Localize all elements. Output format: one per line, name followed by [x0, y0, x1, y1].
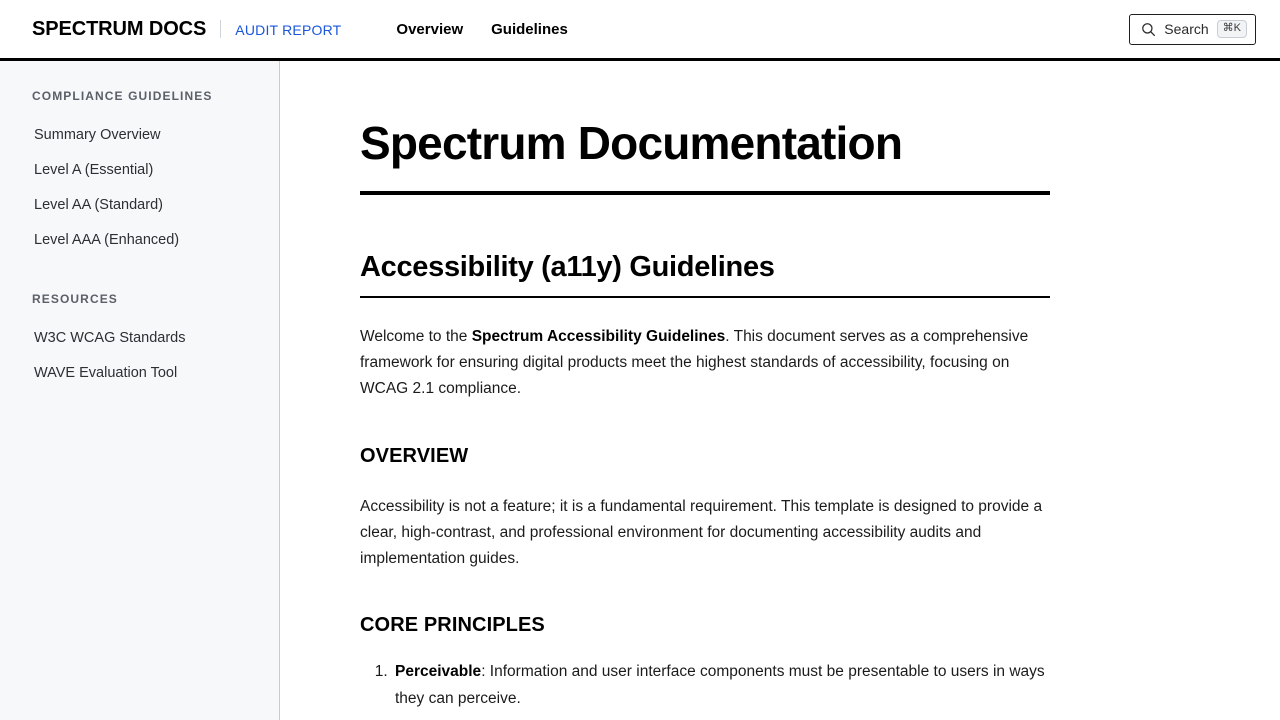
brand-subtitle: AUDIT REPORT — [235, 22, 341, 38]
sidebar: COMPLIANCE GUIDELINES Summary Overview L… — [0, 61, 280, 720]
section-heading-accessibility: Accessibility (a11y) Guidelines — [360, 251, 1050, 298]
sidebar-item-level-a[interactable]: Level A (Essential) — [0, 152, 279, 187]
search-label: Search — [1164, 21, 1208, 37]
page-title: Spectrum Documentation — [360, 119, 1050, 195]
main-content: Spectrum Documentation Accessibility (a1… — [280, 61, 1280, 720]
brand-divider — [220, 20, 221, 38]
sidebar-item-summary-overview[interactable]: Summary Overview — [0, 117, 279, 152]
intro-bold: Spectrum Accessibility Guidelines — [472, 328, 726, 345]
sidebar-spacer — [0, 257, 279, 292]
app-header: SPECTRUM DOCS AUDIT REPORT Overview Guid… — [0, 0, 1280, 61]
subsection-heading-overview: OVERVIEW — [360, 445, 1050, 468]
intro-paragraph: Welcome to the Spectrum Accessibility Gu… — [360, 324, 1050, 403]
sidebar-section-title-resources: RESOURCES — [0, 292, 279, 306]
sidebar-item-w3c-wcag-standards[interactable]: W3C WCAG Standards — [0, 320, 279, 355]
principle-text: : Information and user interface compone… — [395, 663, 1045, 706]
search-icon — [1141, 22, 1156, 37]
intro-lead: Welcome to the — [360, 328, 472, 345]
main-nav: Overview Guidelines — [396, 21, 567, 38]
overview-paragraph: Accessibility is not a feature; it is a … — [360, 494, 1050, 573]
sidebar-item-wave-evaluation-tool[interactable]: WAVE Evaluation Tool — [0, 355, 279, 390]
content-column: Spectrum Documentation Accessibility (a1… — [360, 61, 1050, 712]
sidebar-item-level-aaa[interactable]: Level AAA (Enhanced) — [0, 222, 279, 257]
list-item: Perceivable: Information and user interf… — [392, 659, 1050, 712]
search-button[interactable]: Search ⌘K — [1129, 14, 1256, 45]
core-principles-list: Perceivable: Information and user interf… — [360, 659, 1050, 712]
subsection-heading-core-principles: CORE PRINCIPLES — [360, 614, 1050, 637]
page-shell: COMPLIANCE GUIDELINES Summary Overview L… — [0, 61, 1280, 720]
sidebar-section-title-compliance: COMPLIANCE GUIDELINES — [0, 89, 279, 103]
brand-group: SPECTRUM DOCS AUDIT REPORT — [32, 18, 341, 41]
principle-term: Perceivable — [395, 663, 481, 680]
sidebar-item-level-aa[interactable]: Level AA (Standard) — [0, 187, 279, 222]
nav-link-overview[interactable]: Overview — [396, 21, 463, 38]
search-shortcut-badge: ⌘K — [1217, 20, 1247, 38]
brand-title: SPECTRUM DOCS — [32, 18, 206, 41]
nav-link-guidelines[interactable]: Guidelines — [491, 21, 568, 38]
